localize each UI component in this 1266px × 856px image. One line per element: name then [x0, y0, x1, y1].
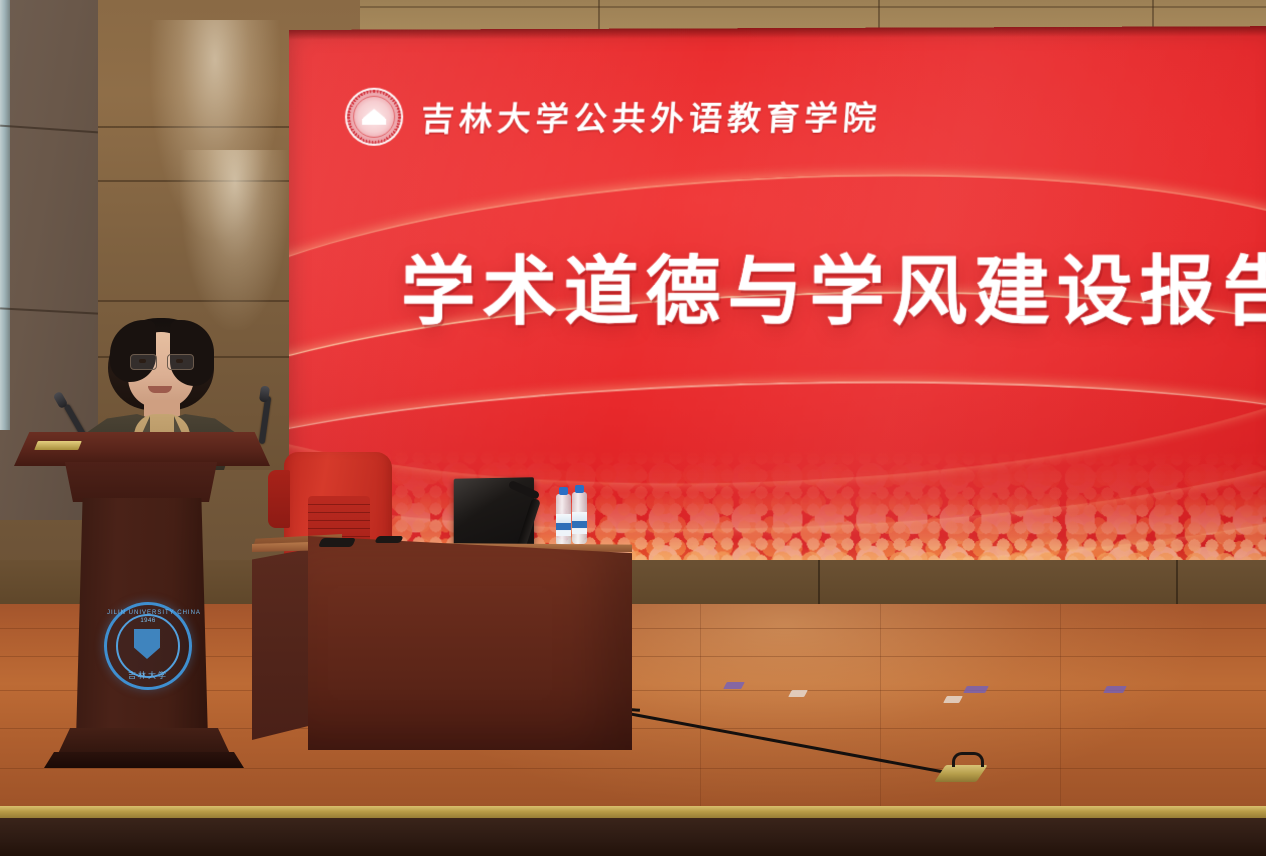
bottle-cap: [559, 487, 568, 495]
jilin-university-logo: JILIN UNIVERSITY CHINA 1946 吉林大学: [104, 602, 192, 690]
speaker-person: [86, 318, 236, 448]
speaker-mouth: [148, 386, 172, 393]
speaker-hair-right: [170, 320, 214, 386]
university-seal-icon: [345, 88, 403, 146]
speaker-hair-left: [110, 320, 156, 382]
podium-body: JILIN UNIVERSITY CHINA 1946 吉林大学: [76, 498, 208, 740]
bottle-cap: [575, 485, 584, 493]
floor-tape-mark: [723, 682, 745, 689]
podium-plinth: [44, 752, 244, 768]
floor-outlet-cables: [952, 752, 984, 767]
speaker-podium: JILIN UNIVERSITY CHINA 1946 吉林大学: [14, 432, 270, 780]
chair-armrest: [268, 470, 290, 528]
seal-ring-text: [347, 90, 401, 144]
event-title: 学术道德与学风建设报告会: [401, 253, 1266, 332]
organization-name: 吉林大学公共外语教育学院: [420, 91, 884, 140]
stage-front-face: [0, 818, 1266, 856]
screen-header: 吉林大学公共外语教育学院: [345, 86, 882, 146]
floor-tape-mark: [963, 686, 989, 693]
table-front-panel: [308, 536, 632, 750]
podium-nameplate: [34, 441, 82, 450]
speaker-glasses: [130, 354, 192, 368]
logo-year: 1946: [107, 618, 189, 624]
podium-neck: [60, 462, 222, 502]
stage-photograph: 吉林大学公共外语教育学院 学术道德与学风建设报告会: [0, 0, 1266, 856]
pillar-light-edge: [0, 0, 10, 430]
logo-ring-text-en: JILIN UNIVERSITY CHINA: [107, 610, 189, 616]
led-backdrop-screen: 吉林大学公共外语教育学院 学术道德与学风建设报告会: [289, 26, 1266, 602]
table-object-device: [374, 536, 403, 543]
podium-top: [14, 432, 270, 466]
logo-ring-text-cn: 吉林大学: [107, 670, 189, 681]
conference-table: [252, 528, 632, 778]
table-object-remote: [318, 538, 356, 547]
floor-tape-mark: [1103, 686, 1127, 693]
